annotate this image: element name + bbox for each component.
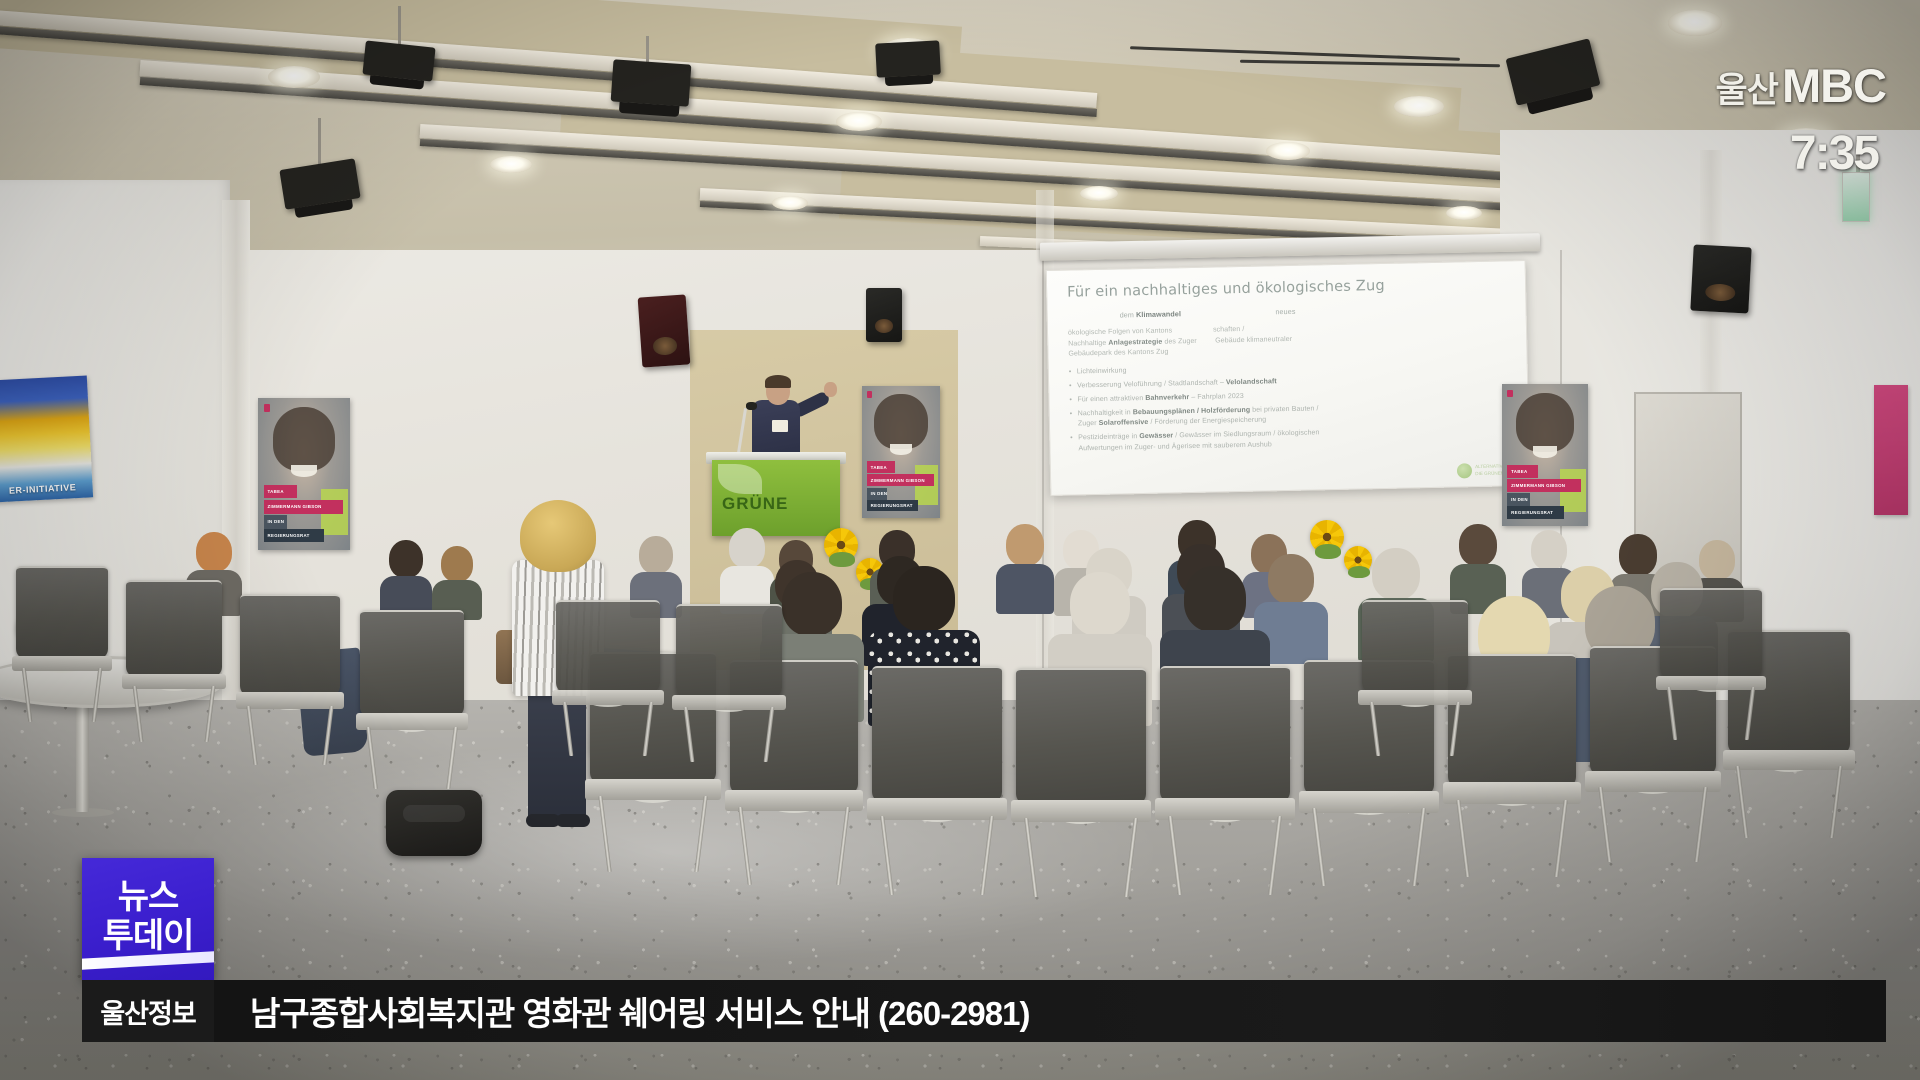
sunflower: [824, 528, 858, 562]
ceiling-light: [490, 156, 532, 173]
chair-leg: [836, 807, 850, 885]
sunflower-leaf: [829, 552, 856, 566]
poster-name-bar-2: ZIMMERMANN GIBSON: [867, 474, 934, 486]
table-stem: [76, 700, 89, 812]
chair-leg: [738, 807, 752, 885]
poster-hair: [273, 407, 336, 471]
campaign-poster: TABEA ZIMMERMANN GIBSON IN DEN REGIERUNG…: [862, 386, 940, 518]
audience-person: [432, 546, 482, 620]
poster-name-3: IN DEN: [867, 491, 888, 496]
poster-name-4: REGIERUNGSRAT: [867, 503, 913, 508]
slide-bullet-list: Lichteinwirkung Verbesserung Veloführung…: [1069, 358, 1513, 455]
backpack: [386, 790, 482, 856]
poster-name-bar-4: REGIERUNGSRAT: [264, 529, 325, 543]
person-head: [639, 536, 673, 574]
poster-name-bar-1: TABEA: [1507, 465, 1538, 478]
chair-seat: [1723, 750, 1855, 770]
chair-seat: [1585, 771, 1721, 792]
chair-seat: [1155, 798, 1295, 820]
person-head: [729, 528, 765, 568]
chair-seat: [12, 656, 111, 671]
chair-seat: [1299, 791, 1439, 813]
chair-leg: [91, 668, 102, 722]
chair-seat: [585, 779, 721, 800]
initiative-banner: ER-INITIATIVE: [0, 375, 93, 502]
person-head: [196, 532, 232, 572]
chair: [126, 580, 222, 736]
poster-name-1: TABEA: [264, 489, 284, 494]
chair-leg: [880, 816, 894, 895]
ceiling-light: [772, 196, 808, 210]
person-head: [1268, 554, 1314, 604]
news-ticker-text: 남구종합사회복지관 영화관 쉐어링 서비스 안내 (260-2981): [214, 987, 1029, 1035]
leaf-icon: [718, 464, 762, 494]
poster-hair: [874, 394, 927, 449]
party-mark-icon: [264, 404, 270, 412]
poster-name-3: IN DEN: [1507, 497, 1528, 502]
segment-label: 울산정보: [100, 992, 195, 1031]
poster-smile: [291, 465, 317, 477]
stage-light: [362, 40, 435, 81]
chair: [1160, 666, 1290, 886]
chair: [1362, 600, 1468, 750]
person-head: [893, 566, 955, 632]
news-ticker: 남구종합사회복지관 영화관 쉐어링 서비스 안내 (260-2981): [214, 980, 1886, 1042]
poster-smile: [890, 444, 912, 455]
speaker-name-badge: [772, 420, 788, 432]
channel-region-label: 울산: [1716, 62, 1778, 113]
wall-speaker: [1690, 245, 1751, 314]
person-head: [1372, 548, 1420, 600]
poster-name-bar-3: IN DEN: [867, 488, 887, 500]
person-head: [782, 572, 842, 636]
chair: [676, 604, 782, 756]
chair-leg: [1829, 766, 1842, 838]
chair-leg: [446, 727, 458, 789]
chair-leg: [322, 706, 333, 765]
chair-leg: [642, 702, 653, 756]
chair-leg: [563, 702, 574, 756]
slide-title: Für ein nachhaltiges und ökologisches Zu…: [1067, 275, 1509, 300]
chair: [556, 600, 660, 750]
chair-seat: [356, 713, 468, 730]
standing-person-hair: [520, 500, 596, 572]
poster-name-bar-3: IN DEN: [1507, 493, 1529, 506]
poster-name-bar-1: TABEA: [867, 461, 895, 473]
chair-leg: [367, 727, 379, 789]
chair: [1660, 588, 1762, 734]
chair: [872, 666, 1002, 886]
chair-leg: [1369, 702, 1380, 756]
chair-leg: [683, 707, 694, 762]
ceiling-cable: [1130, 46, 1460, 61]
chair-back: [240, 594, 340, 696]
chair-seat: [1011, 800, 1151, 822]
chair-leg: [695, 796, 708, 872]
chair-seat: [725, 790, 863, 812]
chair-leg: [1598, 787, 1611, 862]
chair-leg: [205, 686, 216, 742]
segment-label-box: 울산정보: [82, 980, 214, 1042]
speaker-hand: [824, 382, 837, 397]
campaign-poster: TABEA ZIMMERMANN GIBSON IN DEN REGIERUNG…: [258, 398, 350, 550]
person-head: [1531, 530, 1567, 570]
chair-leg: [132, 686, 143, 742]
chair-leg: [1124, 818, 1138, 897]
wall-speaker: [638, 294, 691, 367]
podium: GRÜNE: [712, 460, 840, 536]
channel-logo: 울산 MBC: [1716, 62, 1886, 113]
chair-leg: [1736, 766, 1749, 838]
chair-leg: [1412, 808, 1426, 886]
ceiling-light: [1266, 142, 1310, 160]
chair-leg: [980, 816, 994, 895]
poster-name-1: TABEA: [1507, 469, 1527, 474]
light-hanger-rod: [318, 118, 321, 166]
stage-light: [875, 40, 941, 77]
person-head: [389, 540, 423, 578]
ceiling-light: [1668, 10, 1722, 36]
stage-light: [611, 59, 692, 106]
chair-leg: [22, 668, 33, 722]
podium-party-subtitle: [722, 514, 726, 529]
chair-leg: [1745, 687, 1755, 740]
chair-seat: [1358, 690, 1472, 705]
ceiling-light: [268, 66, 320, 88]
poster-name-2: ZIMMERMANN GIBSON: [264, 504, 322, 509]
chair-back: [872, 666, 1002, 802]
chair: [240, 594, 340, 758]
chair-leg: [1268, 816, 1282, 895]
poster-hair: [1516, 393, 1574, 453]
program-badge: 뉴스 투데이: [82, 858, 214, 980]
party-mark-icon: [867, 391, 872, 398]
chair-leg: [1667, 687, 1677, 740]
speaker-hair: [765, 375, 791, 388]
chair-seat: [672, 695, 786, 710]
chair-seat: [552, 690, 664, 705]
chair-back: [360, 610, 464, 717]
slide-paragraph: ökologische Folgen von Kantons schaften …: [1068, 319, 1511, 360]
sunflower: [1310, 520, 1344, 554]
wall-seam: [1042, 250, 1044, 680]
poster-name-3: IN DEN: [264, 519, 285, 524]
ceiling-cable: [1240, 60, 1500, 68]
poster-name-bar-2: ZIMMERMANN GIBSON: [264, 500, 343, 514]
chair-leg: [1450, 702, 1461, 756]
leaf-icon: [1457, 463, 1472, 478]
party-mark-icon: [1507, 390, 1513, 397]
onscreen-clock: 7:35: [1790, 126, 1878, 181]
chair-back: [126, 580, 222, 677]
chair-back: [1016, 668, 1146, 804]
pink-banner: [1874, 385, 1908, 515]
chair-back: [676, 604, 782, 698]
chair-leg: [1456, 800, 1469, 877]
poster-name-bar-4: REGIERUNGSRAT: [867, 500, 918, 512]
chair-leg: [1312, 808, 1326, 886]
chair-back: [556, 600, 660, 693]
video-frame: Für ein nachhaltiges und ökologisches Zu…: [0, 0, 1920, 1080]
person-head: [1006, 524, 1044, 566]
chair: [360, 610, 464, 782]
poster-name-bar-3: IN DEN: [264, 515, 288, 529]
microphone-head: [746, 402, 757, 410]
person-torso: [996, 564, 1054, 614]
poster-name-2: ZIMMERMANN GIBSON: [1507, 483, 1565, 488]
chair-seat: [1656, 676, 1766, 691]
standing-person-shoe: [526, 814, 560, 827]
person-head: [1070, 572, 1130, 636]
poster-name-4: REGIERUNGSRAT: [264, 533, 310, 538]
slide-subtitle: dem Klimawandel neues: [1068, 302, 1510, 320]
chair-back: [1362, 600, 1468, 693]
poster-name-bar-4: REGIERUNGSRAT: [1507, 506, 1564, 519]
chair-leg: [1168, 816, 1182, 895]
slide-bullet: Pestizideinträge in Gewässer / Gewässer …: [1070, 424, 1512, 454]
audience-person: [380, 540, 432, 618]
ceiling-light: [1446, 206, 1482, 220]
podium-party-name: GRÜNE: [722, 494, 788, 514]
broadcast-screen: Für ein nachhaltiges und ökologisches Zu…: [0, 0, 1920, 1080]
chair-seat: [236, 692, 344, 708]
ceiling-light: [836, 112, 882, 131]
wall-speaker: [866, 288, 902, 342]
poster-smile: [1533, 446, 1557, 457]
person-head: [1184, 566, 1246, 632]
channel-network-label: MBC: [1782, 65, 1886, 107]
poster-name-bar-2: ZIMMERMANN GIBSON: [1507, 479, 1581, 492]
chair-back: [1660, 588, 1762, 679]
projection-screen: Für ein nachhaltiges und ökologisches Zu…: [1046, 260, 1531, 496]
chair-leg: [598, 796, 611, 872]
standing-person-shoe: [556, 814, 590, 827]
campaign-poster: TABEA ZIMMERMANN GIBSON IN DEN REGIERUNG…: [1502, 384, 1588, 526]
light-hanger-rod: [398, 6, 401, 46]
chair-leg: [1024, 818, 1038, 897]
chair: [1016, 668, 1146, 888]
poster-name-bar-1: TABEA: [264, 485, 297, 499]
chair-leg: [764, 707, 775, 762]
person-head: [1459, 524, 1497, 566]
chair: [16, 566, 108, 716]
person-head: [441, 546, 473, 582]
chair-leg: [246, 706, 257, 765]
program-badge-line2: 투데이: [82, 908, 214, 957]
chair-leg: [1554, 800, 1567, 877]
chair-seat: [1443, 782, 1581, 803]
ceiling-light: [1394, 96, 1444, 117]
poster-name-2: ZIMMERMANN GIBSON: [867, 478, 925, 483]
poster-name-1: TABEA: [867, 465, 887, 470]
chair-leg: [1695, 787, 1708, 862]
chair-seat: [867, 798, 1007, 820]
initiative-banner-text: ER-INITIATIVE: [0, 481, 93, 496]
chair-back: [1160, 666, 1290, 802]
ceiling-light: [1080, 186, 1118, 201]
poster-name-4: REGIERUNGSRAT: [1507, 510, 1553, 515]
audience-person: [996, 524, 1054, 614]
chair-back: [16, 566, 108, 659]
